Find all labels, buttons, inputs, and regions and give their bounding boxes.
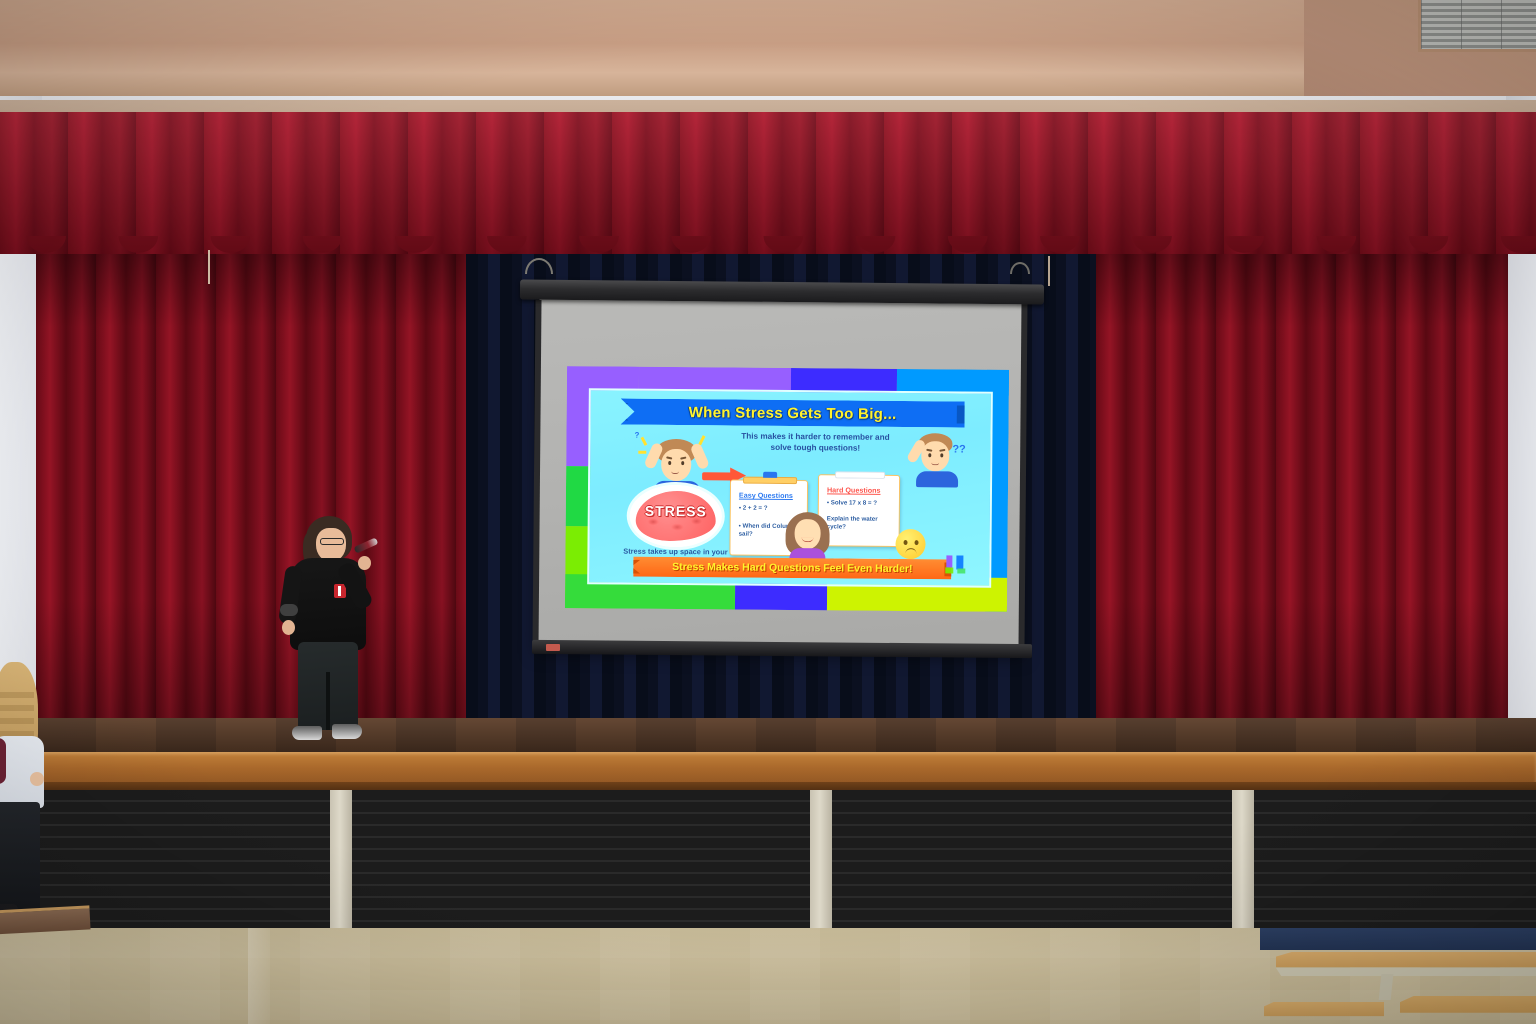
slide-content-card: When Stress Gets Too Big... — [587, 388, 993, 588]
easy-questions-heading: Easy Questions — [739, 491, 793, 500]
wall-base-panel — [1260, 928, 1536, 950]
slide-intro-text: This makes it harder to remember and sol… — [740, 432, 890, 454]
ceiling-vent-icon — [1418, 0, 1536, 52]
microphone-icon — [354, 537, 379, 553]
slide-footer-text: Stress Makes Hard Questions Feel Even Ha… — [633, 557, 951, 580]
confused-kid-illustration: ?? — [910, 427, 969, 488]
floor-seam — [248, 928, 270, 1024]
valance-shading — [0, 112, 1536, 254]
bystander-figure — [0, 662, 56, 924]
apron-pilaster — [1232, 790, 1254, 932]
slide-question-mark-left: ? — [634, 431, 639, 440]
slide-title: When Stress Gets Too Big... — [621, 399, 965, 428]
stage-apron-panel — [0, 790, 1536, 932]
decorative-logo-mark — [943, 553, 971, 575]
curtain-cord-secondary — [1048, 256, 1050, 286]
hard-questions-clipboard: Hard Questions • Solve 17 x 8 = ? Explai… — [818, 474, 901, 547]
apron-pilaster — [810, 790, 832, 932]
curtain-cord — [208, 250, 210, 284]
hard-question-item-1: • Solve 17 x 8 = ? — [827, 499, 897, 508]
projection-screen: When Stress Gets Too Big... — [520, 282, 1044, 670]
hard-questions-heading: Hard Questions — [827, 485, 881, 494]
sad-face-icon — [895, 529, 925, 559]
folding-table-edge — [1276, 968, 1536, 976]
student-avatar-illustration — [785, 512, 829, 562]
presenter-figure — [278, 516, 378, 750]
screen-pull-tab — [546, 644, 560, 651]
stress-label: STRESS — [636, 503, 716, 520]
glasses-icon — [320, 538, 344, 545]
stage-curtain-right — [1096, 236, 1508, 742]
slide-question-marks: ?? — [952, 443, 966, 455]
auditorium-photo: When Stress Gets Too Big... — [0, 0, 1536, 1024]
stage-curtain-left — [36, 236, 466, 742]
slide-footer-banner: Stress Makes Hard Questions Feel Even Ha… — [633, 557, 951, 580]
screen-bottom-bar — [532, 640, 1032, 658]
hard-question-item-2: Explain the water cycle? — [827, 515, 893, 532]
apron-pilaster — [330, 790, 352, 932]
projected-slide: When Stress Gets Too Big... — [565, 366, 1009, 612]
slide-title-banner: When Stress Gets Too Big... — [621, 399, 965, 428]
